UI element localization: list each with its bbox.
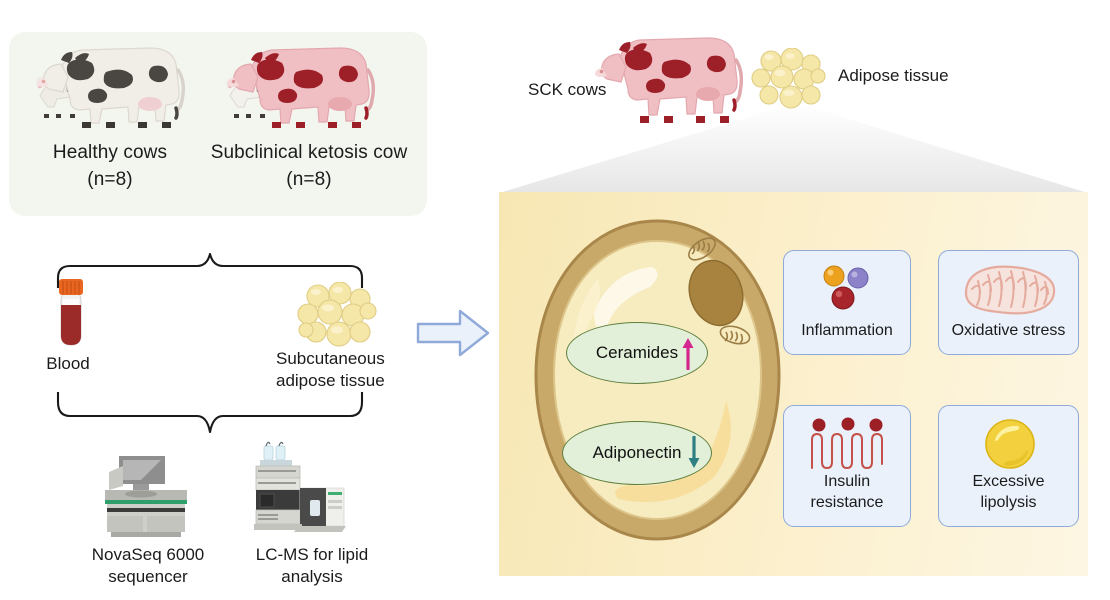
healthy-cows-label: Healthy cows (n=8) [20,139,200,193]
dairy-cow-red-pink-icon [210,34,395,134]
subclinical-ketosis-cow-label: Subclinical ketosis cow (n=8) [198,139,420,193]
feature-inflammation[interactable]: Inflammation [783,250,911,355]
lipid-droplet-icon [983,417,1037,476]
sat-label-line1: Subcutaneous [276,348,426,370]
feature-insulin-resistance[interactable]: Insulin resistance [783,405,911,527]
ceramides-marker: Ceramides [566,322,708,384]
inflammation-label: Inflammation [784,321,910,341]
dairy-cow-black-white-icon [20,34,205,134]
lcms-label: LC-MS for lipid analysis [232,544,392,588]
insulin-resistance-label-line1: Insulin [784,472,910,492]
lc-ms-instrument-icon [238,440,356,540]
healthy-cows-count: (n=8) [20,166,200,193]
sck-cow-count: (n=8) [198,166,420,193]
novaseq-label-line2: sequencer [68,566,228,588]
sat-label-line2: adipose tissue [276,370,426,392]
blood-collection-tube-icon [50,277,92,355]
novaseq-label-line1: NovaSeq 6000 [68,544,228,566]
adipocyte-cluster-icon-top [750,48,828,114]
insulin-receptor-icon [804,416,892,477]
graphical-abstract: Healthy cows (n=8) Subclinical ketosis c… [0,0,1110,600]
brace-samples-to-instruments [55,392,365,444]
dna-sequencer-icon [95,450,203,540]
healthy-cows-name: Healthy cows [20,139,200,166]
right-arrow-icon [414,303,492,363]
oxidative-stress-label: Oxidative stress [939,321,1078,341]
insulin-resistance-label-line2: resistance [784,493,910,513]
feature-excessive-lipolysis[interactable]: Excessive lipolysis [938,405,1079,527]
lcms-label-line1: LC-MS for lipid [232,544,392,566]
novaseq-label: NovaSeq 6000 sequencer [68,544,228,588]
dairy-cow-red-pink-icon-top [578,20,763,130]
cytokine-spheres-icon [817,262,879,319]
excessive-lipolysis-label-line1: Excessive [939,472,1078,492]
blood-label: Blood [18,353,118,375]
adipocyte-cluster-icon [296,282,378,352]
sck-cows-label: SCK cows [528,80,606,100]
arrow-down-icon [687,436,701,470]
mitochondrion-icon [958,263,1062,324]
sck-cow-name: Subclinical ketosis cow [198,139,420,166]
excessive-lipolysis-label-line2: lipolysis [939,493,1078,513]
ceramides-label: Ceramides [596,343,678,363]
adiponectin-marker: Adiponectin [562,421,712,485]
lcms-label-line2: analysis [232,566,392,588]
arrow-up-icon [681,336,695,370]
subcutaneous-adipose-tissue-label: Subcutaneous adipose tissue [276,348,426,392]
feature-oxidative-stress[interactable]: Oxidative stress [938,250,1079,355]
adipose-tissue-label: Adipose tissue [838,66,949,86]
adiponectin-label: Adiponectin [593,443,682,463]
